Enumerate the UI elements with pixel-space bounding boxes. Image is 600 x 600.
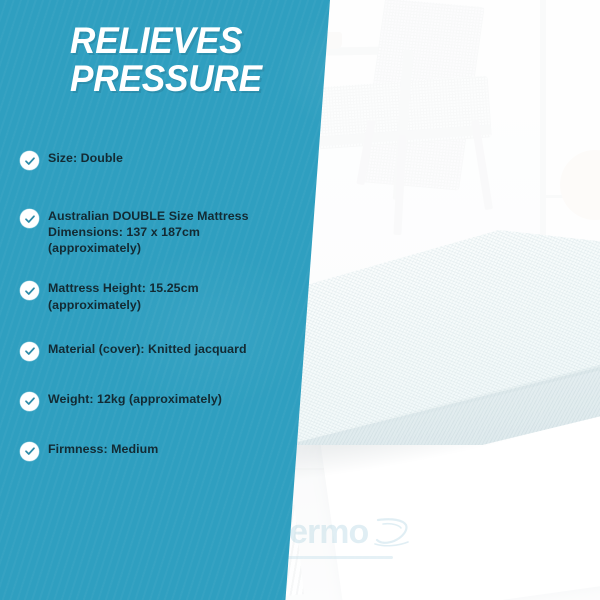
headline-line-2: PRESSURE — [70, 60, 308, 98]
check-circle-icon — [20, 281, 39, 300]
feature-label: Firmness: Medium — [48, 441, 158, 457]
feature-item-dimensions: Australian DOUBLE Size Mattress Dimensio… — [20, 208, 278, 256]
check-circle-icon — [20, 392, 39, 411]
feature-list: Size: Double Australian DOUBLE Size Matt… — [20, 150, 278, 485]
feature-label: Australian DOUBLE Size Mattress Dimensio… — [48, 208, 278, 256]
check-circle-icon — [20, 442, 39, 461]
headline-line-1: RELIEVES — [70, 20, 242, 61]
check-circle-icon — [20, 151, 39, 170]
feature-item-material: Material (cover): Knitted jacquard — [20, 341, 278, 361]
feature-label: Material (cover): Knitted jacquard — [48, 341, 247, 357]
feature-label: Weight: 12kg (approximately) — [48, 391, 222, 407]
feature-item-height: Mattress Height: 15.25cm (approximately) — [20, 280, 278, 312]
feature-item-weight: Weight: 12kg (approximately) — [20, 391, 278, 411]
palermo-chair-icon — [372, 515, 412, 549]
check-circle-icon — [20, 209, 39, 228]
feature-label: Size: Double — [48, 150, 123, 166]
check-circle-icon — [20, 342, 39, 361]
page-title: RELIEVES PRESSURE — [70, 22, 308, 97]
feature-item-size: Size: Double — [20, 150, 278, 170]
product-feature-banner: palermo palermo RELIEVES — [0, 0, 600, 600]
feature-label: Mattress Height: 15.25cm (approximately) — [48, 280, 278, 312]
feature-item-firmness: Firmness: Medium — [20, 441, 278, 461]
